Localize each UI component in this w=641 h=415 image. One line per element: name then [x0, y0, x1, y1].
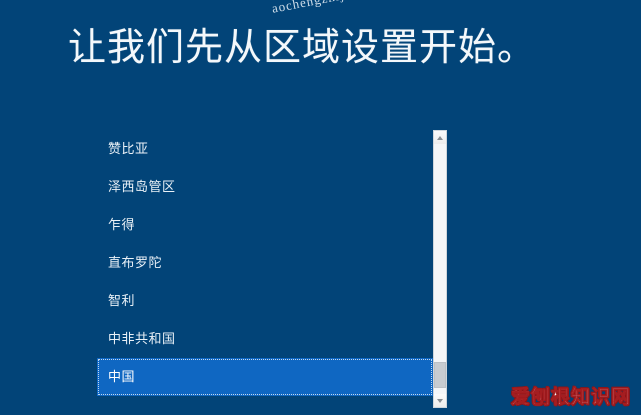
scroll-up-button[interactable] [434, 131, 446, 144]
scrollbar-track[interactable] [434, 144, 446, 396]
list-item-label: 中非共和国 [108, 331, 176, 346]
list-item-label: 乍得 [108, 217, 135, 232]
scroll-down-button[interactable] [434, 394, 446, 407]
region-list[interactable]: 赞比亚 泽西岛管区 乍得 直布罗陀 智利 中非共和国 中国 [97, 130, 433, 408]
list-item-selected[interactable]: 中国 [97, 358, 433, 396]
chevron-down-icon [437, 399, 443, 403]
region-listbox[interactable]: 赞比亚 泽西岛管区 乍得 直布罗陀 智利 中非共和国 中国 [97, 130, 447, 408]
list-item-label: 直布罗陀 [108, 255, 162, 270]
watermark-bottom-text: 爱刨根知识网 [511, 382, 631, 409]
list-item-label: 中国 [108, 369, 135, 384]
vertical-scrollbar[interactable] [433, 130, 447, 408]
list-item[interactable]: 中非共和国 [97, 320, 433, 358]
chevron-up-icon [437, 136, 443, 140]
oobe-region-setup-screen: 让我们先从区域设置开始。 aochengzhijia 赞比亚 泽西岛管区 乍得 … [0, 0, 641, 415]
list-item[interactable]: 直布罗陀 [97, 244, 433, 282]
list-item[interactable]: 乍得 [97, 206, 433, 244]
list-item[interactable]: 赞比亚 [97, 130, 433, 168]
list-item[interactable]: 智利 [97, 282, 433, 320]
page-title: 让我们先从区域设置开始。 [68, 22, 536, 74]
list-item-label: 智利 [108, 293, 135, 308]
watermark-top-text: aochengzhijia [270, 0, 357, 17]
list-item-label: 赞比亚 [108, 141, 149, 156]
scrollbar-thumb[interactable] [434, 362, 446, 388]
list-item[interactable]: 泽西岛管区 [97, 168, 433, 206]
list-item-label: 泽西岛管区 [108, 179, 176, 194]
